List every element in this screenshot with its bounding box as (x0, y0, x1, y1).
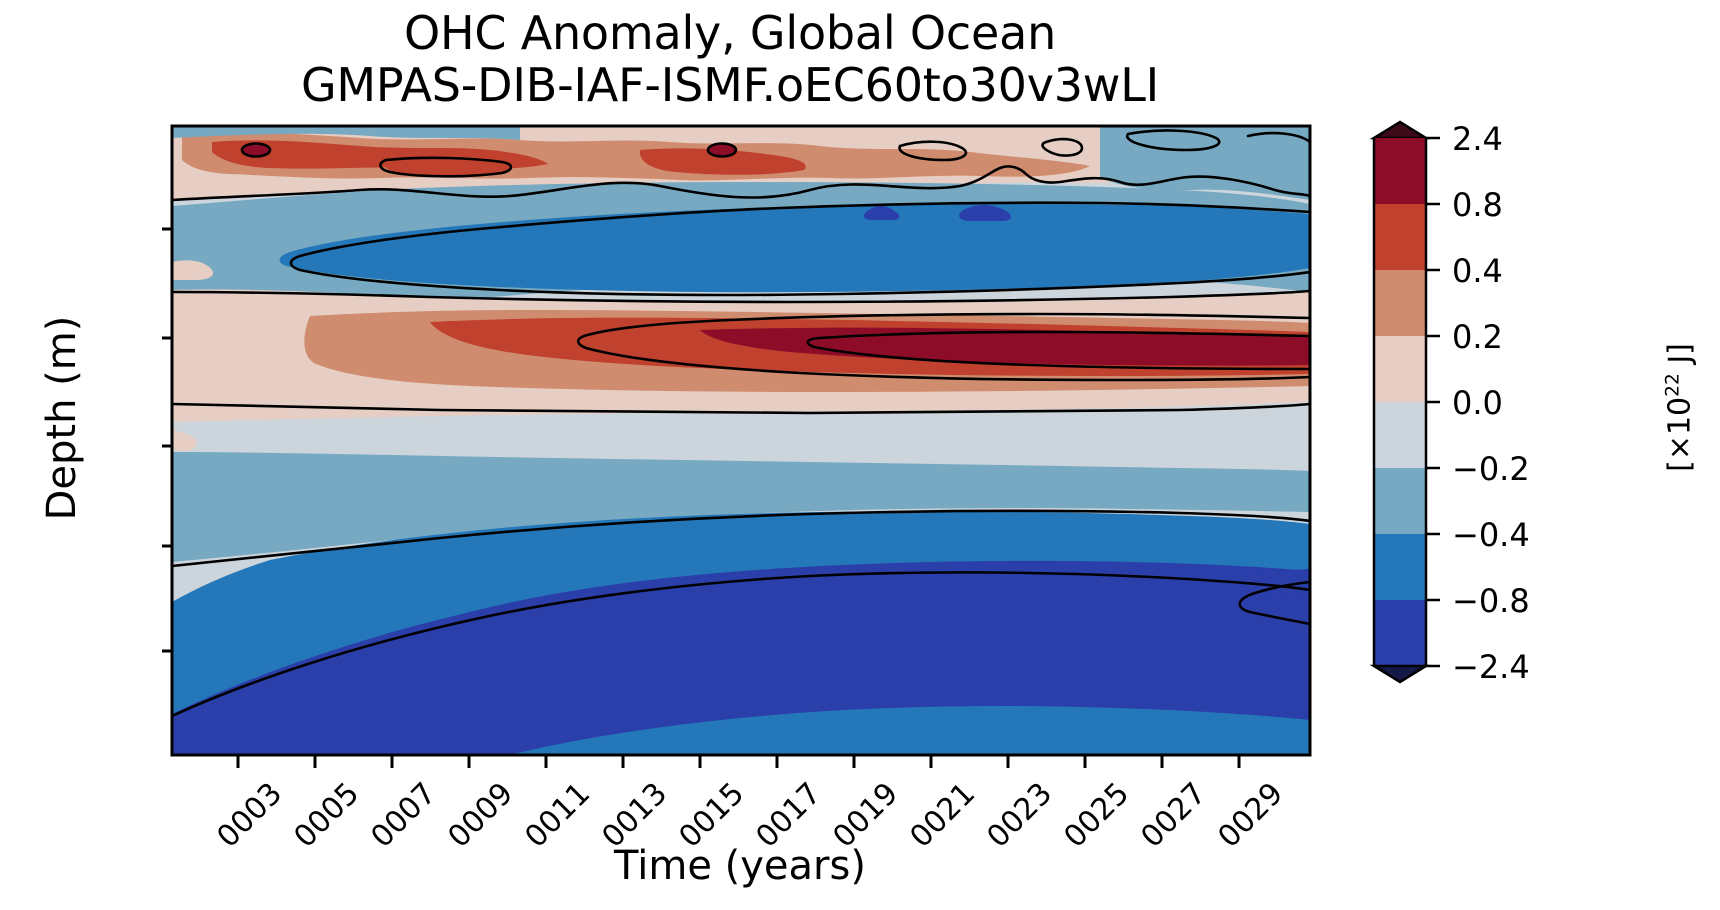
x-tick-marks (238, 755, 1239, 768)
cbtick-label-2p4: 2.4 (1452, 120, 1503, 158)
colorbar-swatch-neg24toneg08 (1374, 600, 1426, 666)
cbtick-label-n0p8: −0.8 (1452, 582, 1530, 620)
colorbar-swatch-neg08toneg04 (1374, 534, 1426, 600)
cbtick-label-n2p4: −2.4 (1452, 648, 1530, 686)
colorbar-group (1374, 122, 1440, 682)
y-axis-label: Depth (m) (39, 188, 85, 648)
colorbar-label: [×1022 J] (1663, 228, 1698, 588)
colorbar-swatch-neg04toneg02 (1374, 468, 1426, 534)
cbtick-label-n0p2: −0.2 (1452, 450, 1530, 488)
colorbar-swatch-08to24 (1374, 138, 1426, 204)
cbtick-label-0p2: 0.2 (1452, 318, 1503, 356)
colorbar-label-prefix: [×10 (1663, 397, 1698, 472)
contour-fill-group (172, 126, 1310, 755)
colorbar-swatch-02to04 (1374, 270, 1426, 336)
colorbar-extend-bottom (1374, 666, 1426, 682)
colorbar-extend-top (1374, 122, 1426, 138)
colorbar-label-exponent: 22 (1663, 373, 1684, 397)
colorbar-tick-marks (1426, 138, 1440, 666)
colorbar-swatch-0to02 (1374, 336, 1426, 402)
colorbar-swatch-neg02to0 (1374, 402, 1426, 468)
cbtick-label-0p0: 0.0 (1452, 384, 1503, 422)
cbtick-label-0p4: 0.4 (1452, 252, 1503, 290)
figure-canvas: OHC Anomaly, Global Ocean GMPAS-DIB-IAF-… (0, 0, 1720, 910)
cbtick-label-0p8: 0.8 (1452, 186, 1503, 224)
colorbar-swatch-04to08 (1374, 204, 1426, 270)
cbtick-label-n0p4: −0.4 (1452, 516, 1530, 554)
colorbar-label-suffix: J] (1663, 343, 1698, 373)
x-axis-label: Time (years) (0, 843, 1480, 889)
